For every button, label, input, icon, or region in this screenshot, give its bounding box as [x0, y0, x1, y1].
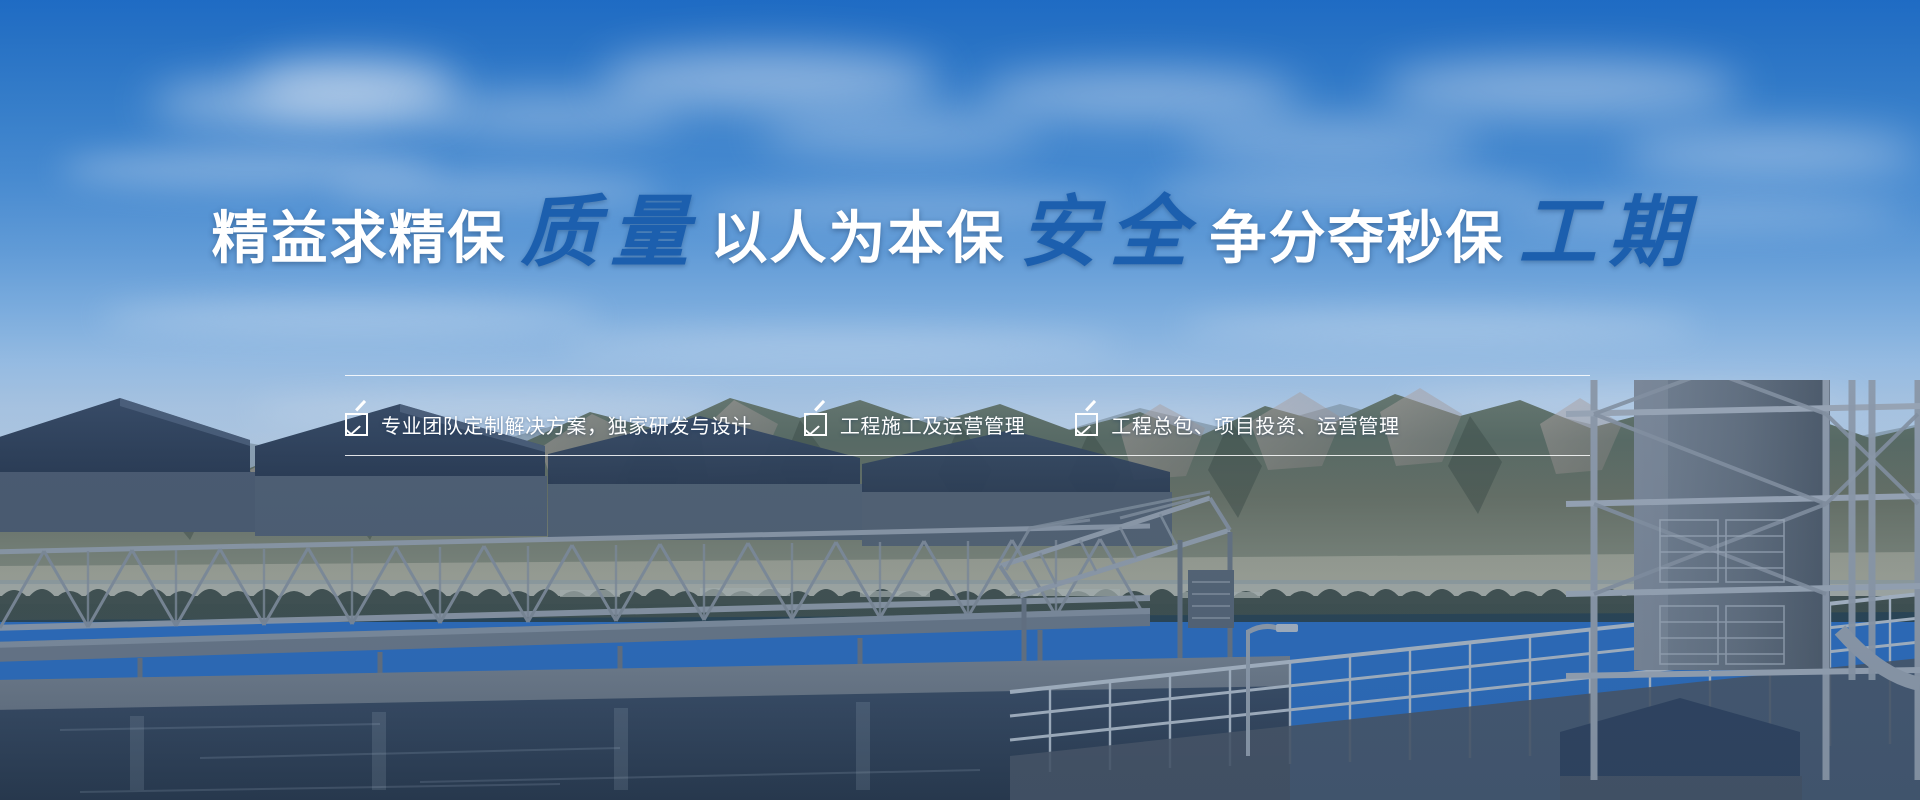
checkbox-checked-icon	[1075, 413, 1098, 436]
hero-banner: 精益求精保质量以人为本保安全争分夺秒保工期 专业团队定制解决方案，独家研发与设计…	[0, 0, 1920, 800]
headline-segment-6-calligraphy: 工期	[1519, 189, 1699, 276]
headline-segment-1: 精益求精保	[211, 207, 506, 271]
headline-segment-5: 争分夺秒保	[1210, 207, 1505, 271]
checkbox-checked-icon	[804, 413, 827, 436]
feature-list: 专业团队定制解决方案，独家研发与设计 工程施工及运营管理 工程总包、项目投资、运…	[345, 395, 1590, 453]
divider-top	[345, 375, 1590, 376]
divider-bottom	[345, 455, 1590, 456]
headline: 精益求精保质量以人为本保安全争分夺秒保工期	[0, 200, 1920, 278]
feature-item-1-label: 专业团队定制解决方案，独家研发与设计	[381, 410, 752, 439]
feature-item-3: 工程总包、项目投资、运营管理	[1075, 410, 1399, 439]
checkbox-checked-icon	[345, 413, 368, 436]
feature-item-2: 工程施工及运营管理	[804, 410, 1025, 439]
headline-segment-3: 以人为本保	[710, 207, 1005, 271]
feature-item-3-label: 工程总包、项目投资、运营管理	[1111, 410, 1399, 439]
headline-segment-2-calligraphy: 质量	[520, 189, 700, 276]
banner-text-overlay: 精益求精保质量以人为本保安全争分夺秒保工期 专业团队定制解决方案，独家研发与设计…	[0, 0, 1920, 800]
feature-item-1: 专业团队定制解决方案，独家研发与设计	[345, 410, 752, 439]
headline-segment-4-calligraphy: 安全	[1019, 189, 1199, 276]
feature-item-2-label: 工程施工及运营管理	[840, 410, 1025, 439]
